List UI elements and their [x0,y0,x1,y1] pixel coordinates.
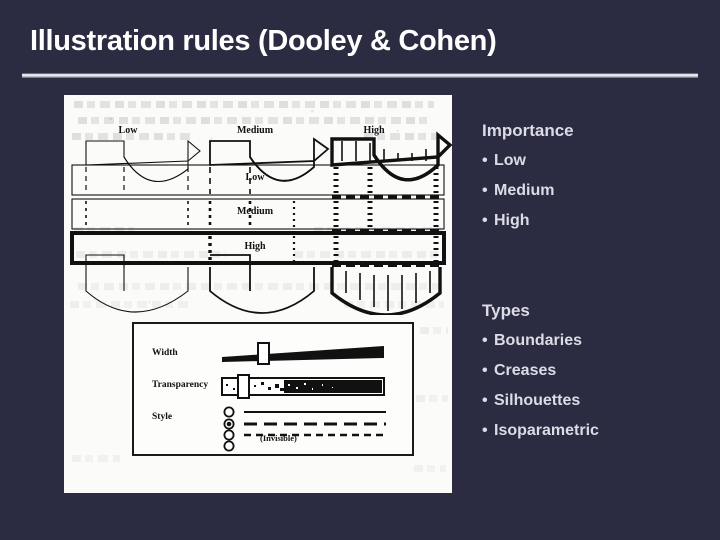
bullet-label: Medium [494,182,554,199]
bullet-label: Creases [494,362,556,379]
bullet-dot-icon: • [482,153,494,169]
ghost-text-line [416,395,448,402]
bullet-item-creases: •Creases [482,363,714,379]
bullet-item-silhouettes: •Silhouettes [482,393,714,409]
width-slider-thumb [258,343,269,364]
control-panel-drawing [134,324,412,454]
page-title: Illustration rules (Dooley & Cohen) [30,26,690,58]
bullet-dot-icon: • [482,423,494,439]
style-radio-short-dash [224,430,233,439]
group-heading-types: Types [482,302,714,319]
bullet-item-low: •Low [482,153,714,169]
bullet-label: High [494,212,530,229]
illustration-figure-panel: Low Medium High Low Medium High [64,95,452,493]
bullet-dot-icon: • [482,183,494,199]
text-group-importance: Importance •Low •Medium •High [482,122,714,243]
ghost-text-line [72,455,120,462]
title-block: Illustration rules (Dooley & Cohen) [30,26,690,58]
group-heading-importance: Importance [482,122,714,139]
bullet-item-medium: •Medium [482,183,714,199]
bullet-label: Silhouettes [494,392,580,409]
bullet-dot-icon: • [482,393,494,409]
ghost-text-line [420,327,448,334]
text-group-types: Types •Boundaries •Creases •Silhouettes … [482,302,714,453]
bullet-dot-icon: • [482,363,494,379]
illustration-control-panel: Width Transparency Style (Invisible) [132,322,414,456]
style-radio-invisible [224,441,233,450]
ghost-text-line [414,465,446,472]
width-slider-track [222,346,384,362]
bullet-label: Boundaries [494,332,582,349]
bullet-dot-icon: • [482,333,494,349]
style-radio-solid [224,407,233,416]
bullet-label: Low [494,152,526,169]
bullet-item-high: •High [482,213,714,229]
style-radio-long-dash-selected-dot [227,422,232,427]
illustration-matrix-drawing [64,95,452,315]
title-divider [22,73,698,78]
bullet-item-isoparametric: •Isoparametric [482,423,714,439]
bullet-label: Isoparametric [494,422,599,439]
slide: Illustration rules (Dooley & Cohen) Low … [0,0,720,540]
bullet-dot-icon: • [482,213,494,229]
bullet-item-boundaries: •Boundaries [482,333,714,349]
transparency-slider-thumb [238,375,249,398]
